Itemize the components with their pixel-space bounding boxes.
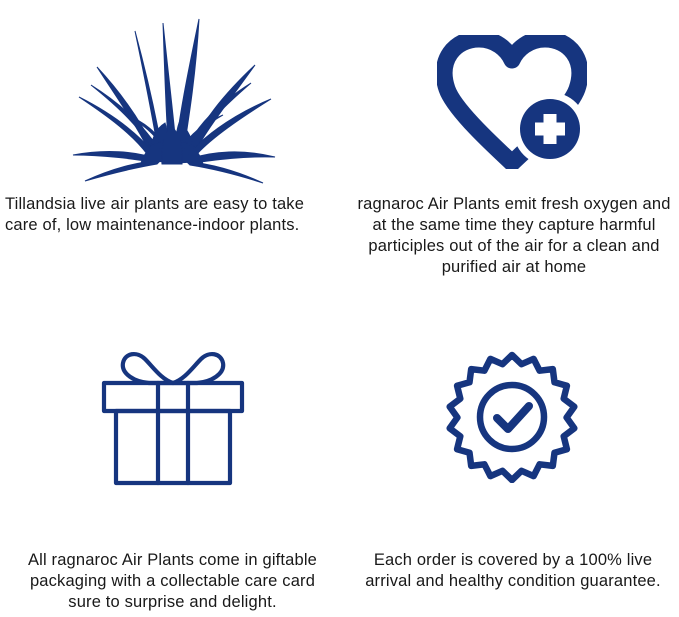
icon-area-giftable-packaging	[0, 308, 345, 508]
verified-badge-icon	[446, 351, 578, 483]
gift-box-icon	[95, 341, 251, 491]
gift-body	[116, 411, 230, 483]
icon-area-easy-care	[0, 0, 345, 190]
feature-cell-giftable-packaging: All ragnaroc Air Plants come in giftable…	[0, 308, 345, 617]
feature-caption-air-purifying: ragnaroc Air Plants emit fresh oxygen an…	[345, 190, 679, 278]
bow-right-loop	[173, 354, 223, 383]
feature-caption-giftable-packaging: All ragnaroc Air Plants come in giftable…	[0, 508, 345, 613]
heart-plus-icon	[437, 35, 587, 169]
feature-caption-easy-care: Tillandsia live air plants are easy to t…	[0, 190, 345, 236]
bow-left-loop	[122, 354, 172, 383]
gift-lid	[104, 383, 242, 411]
badge-starburst	[450, 355, 575, 480]
icon-area-live-arrival-guarantee	[345, 308, 679, 508]
air-plant-icon	[65, 9, 280, 184]
feature-caption-live-arrival-guarantee: Each order is covered by a 100% live arr…	[345, 508, 679, 592]
badge-inner-circle	[480, 385, 544, 449]
feature-cell-easy-care: Tillandsia live air plants are easy to t…	[0, 0, 345, 308]
feature-cell-air-purifying: ragnaroc Air Plants emit fresh oxygen an…	[345, 0, 679, 308]
feature-cell-live-arrival-guarantee: Each order is covered by a 100% live arr…	[345, 308, 679, 617]
checkmark-icon	[497, 406, 529, 429]
feature-grid: Tillandsia live air plants are easy to t…	[0, 0, 679, 617]
icon-area-air-purifying	[345, 0, 679, 190]
